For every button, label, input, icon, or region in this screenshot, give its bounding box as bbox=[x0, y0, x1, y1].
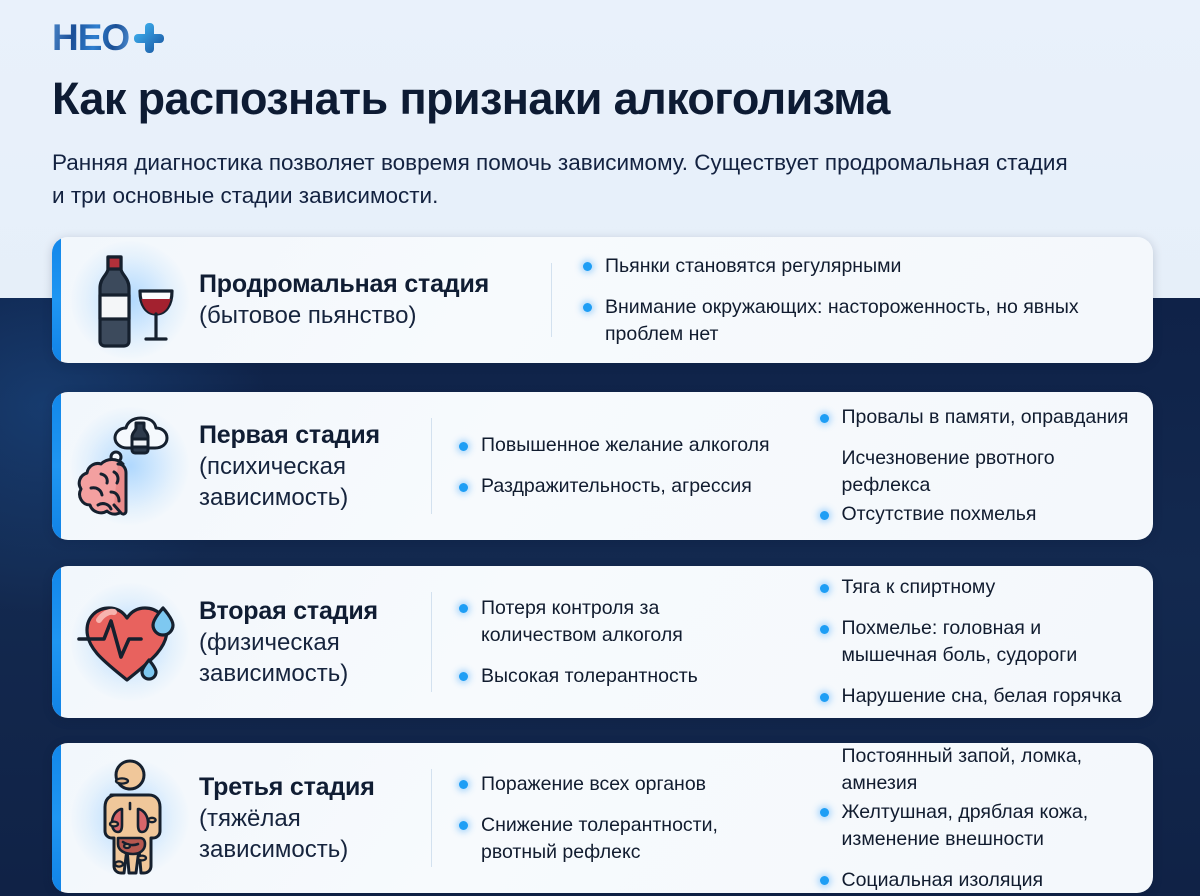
page-title: Как распознать признаки алкоголизма bbox=[52, 72, 1162, 126]
symptom-columns: Поражение всех органов Снижение толерант… bbox=[432, 743, 1153, 893]
list-item: Повышенное желание алкоголя bbox=[458, 432, 779, 459]
list-item: Поражение всех органов bbox=[458, 771, 779, 798]
stage-title-block: Третья стадия (тяжёлая зависимость) bbox=[199, 772, 431, 865]
symptom-list: Поражение всех органов Снижение толерант… bbox=[458, 771, 779, 866]
symptom-column: Провалы в памяти, оправдания Исчезновени… bbox=[793, 404, 1154, 528]
symptom-list: Тяга к спиртному Похмелье: головная и мы… bbox=[819, 574, 1140, 710]
list-item: Тяга к спиртному bbox=[819, 574, 1140, 601]
symptom-list: Потеря контроля за количеством алкоголя … bbox=[458, 595, 779, 690]
stage-card-prodromal: Продромальная стадия (бытовое пьянство) … bbox=[52, 237, 1153, 363]
card-body: Третья стадия (тяжёлая зависимость) Пора… bbox=[61, 743, 1153, 893]
list-item: Желтушная, дряблая кожа, изменение внешн… bbox=[819, 799, 1140, 853]
symptom-list: Повышенное желание алкоголя Раздражитель… bbox=[458, 432, 779, 500]
card-accent-bar bbox=[52, 566, 61, 718]
symptom-list: Постоянный запой, ломка, амнезия Желтушн… bbox=[819, 743, 1140, 893]
list-item: Снижение толерантности, рвотный рефлекс bbox=[458, 812, 779, 866]
symptom-columns: Повышенное желание алкоголя Раздражитель… bbox=[432, 404, 1153, 528]
symptom-columns: Потеря контроля за количеством алкоголя … bbox=[432, 574, 1153, 710]
card-body: Вторая стадия (физическая зависимость) П… bbox=[61, 566, 1153, 718]
card-body: Первая стадия (психическая зависимость) … bbox=[61, 392, 1153, 540]
stage-name: Третья стадия bbox=[199, 772, 413, 803]
card-accent-bar bbox=[52, 237, 61, 363]
symptom-list: Провалы в памяти, оправдания Исчезновени… bbox=[819, 404, 1140, 528]
list-item: Раздражительность, агрессия bbox=[458, 473, 779, 500]
stage-card-third: Третья стадия (тяжёлая зависимость) Пора… bbox=[52, 743, 1153, 893]
symptom-column: Повышенное желание алкоголя Раздражитель… bbox=[432, 432, 793, 500]
list-item: Исчезновение рвотного рефлекса bbox=[819, 445, 1140, 499]
infographic-page: HEO Как распознать признаки алкоголизма … bbox=[0, 0, 1200, 896]
stage-name: Вторая стадия bbox=[199, 596, 413, 627]
plus-icon bbox=[134, 23, 164, 53]
stage-subtitle: (тяжёлая зависимость) bbox=[199, 803, 413, 865]
human-body-organs-icon bbox=[61, 758, 199, 878]
list-item: Похмелье: головная и мышечная боль, судо… bbox=[819, 615, 1140, 669]
stage-title-block: Первая стадия (психическая зависимость) bbox=[199, 420, 431, 513]
list-item: Провалы в памяти, оправдания bbox=[819, 404, 1140, 431]
symptom-column: Поражение всех органов Снижение толерант… bbox=[432, 771, 793, 866]
card-body: Продромальная стадия (бытовое пьянство) … bbox=[61, 237, 1153, 363]
list-item: Внимание окружающих: настороженность, но… bbox=[582, 294, 1139, 348]
list-item: Потеря контроля за количеством алкоголя bbox=[458, 595, 779, 649]
list-item: Пьянки становятся регулярными bbox=[582, 253, 1139, 280]
stage-subtitle: (бытовое пьянство) bbox=[199, 300, 533, 331]
list-item: Отсутствие похмелья bbox=[819, 501, 1140, 528]
page-subtitle: Ранняя диагностика позволяет вовремя пом… bbox=[52, 146, 1082, 212]
list-item: Высокая толерантность bbox=[458, 663, 779, 690]
wine-bottle-and-glass-icon bbox=[61, 251, 199, 349]
list-item: Социальная изоляция bbox=[819, 867, 1140, 894]
stage-card-second: Вторая стадия (физическая зависимость) П… bbox=[52, 566, 1153, 718]
stage-title-block: Продромальная стадия (бытовое пьянство) bbox=[199, 269, 551, 331]
symptom-columns: Пьянки становятся регулярными Внимание о… bbox=[552, 253, 1153, 348]
symptom-column: Постоянный запой, ломка, амнезия Желтушн… bbox=[793, 743, 1154, 893]
symptom-column: Потеря контроля за количеством алкоголя … bbox=[432, 595, 793, 690]
heart-with-pulse-icon bbox=[61, 594, 199, 690]
stage-subtitle: (психическая зависимость) bbox=[199, 451, 413, 513]
brand-logo: HEO bbox=[52, 18, 164, 58]
card-accent-bar bbox=[52, 392, 61, 540]
symptom-list: Пьянки становятся регулярными Внимание о… bbox=[582, 253, 1139, 348]
stage-title-block: Вторая стадия (физическая зависимость) bbox=[199, 596, 431, 689]
brand-name: HEO bbox=[52, 18, 129, 58]
stage-subtitle: (физическая зависимость) bbox=[199, 627, 413, 689]
list-item: Нарушение сна, белая горячка bbox=[819, 683, 1140, 710]
symptom-column: Пьянки становятся регулярными Внимание о… bbox=[552, 253, 1153, 348]
brain-with-thought-bubble-icon bbox=[61, 412, 199, 520]
symptom-column: Тяга к спиртному Похмелье: головная и мы… bbox=[793, 574, 1154, 710]
list-item: Постоянный запой, ломка, амнезия bbox=[819, 743, 1140, 797]
stage-name: Первая стадия bbox=[199, 420, 413, 451]
card-accent-bar bbox=[52, 743, 61, 893]
stage-card-first: Первая стадия (психическая зависимость) … bbox=[52, 392, 1153, 540]
stage-name: Продромальная стадия bbox=[199, 269, 533, 300]
